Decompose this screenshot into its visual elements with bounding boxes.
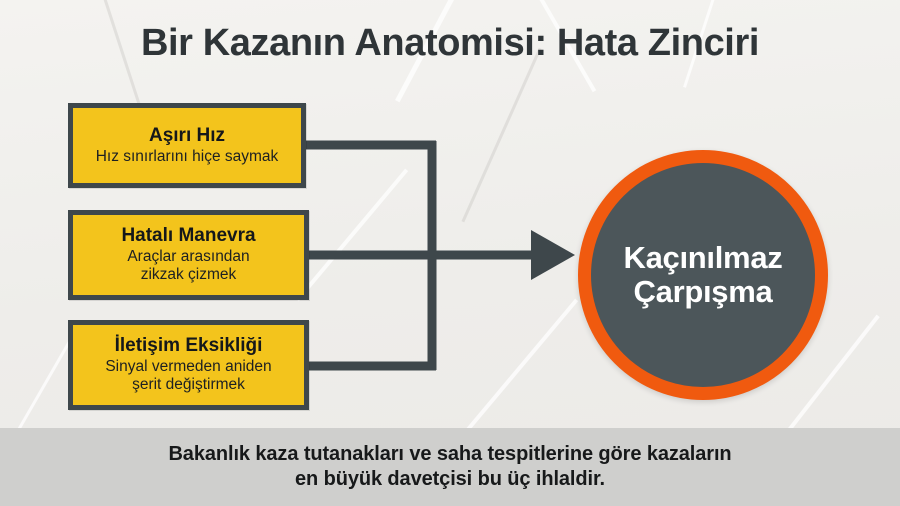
cause-box-2[interactable]: Hatalı Manevra Araçlar arasından zikzak …	[68, 210, 309, 300]
cause-description: Araçlar arasından zikzak çizmek	[127, 248, 249, 283]
cause-description: Sinyal vermeden aniden şerit değiştirmek	[105, 358, 271, 393]
cause-title: İletişim Eksikliği	[115, 336, 263, 356]
caption-text: Bakanlık kaza tutanakları ve saha tespit…	[168, 442, 731, 492]
page-title: Bir Kazanın Anatomisi: Hata Zinciri	[0, 22, 900, 65]
caption-band: Bakanlık kaza tutanakları ve saha tespit…	[0, 428, 900, 506]
cause-box-1[interactable]: Aşırı Hız Hız sınırlarını hiçe saymak	[68, 103, 306, 188]
infographic-canvas: Bir Kazanın Anatomisi: Hata Zinciri Aşır…	[0, 0, 900, 506]
result-circle[interactable]: Kaçınılmaz Çarpışma	[578, 150, 828, 400]
cause-description: Hız sınırlarını hiçe saymak	[96, 148, 279, 166]
cause-title: Hatalı Manevra	[121, 226, 255, 246]
cause-title: Aşırı Hız	[149, 126, 225, 146]
cause-box-3[interactable]: İletişim Eksikliği Sinyal vermeden anide…	[68, 320, 309, 410]
result-label: Kaçınılmaz Çarpışma	[624, 241, 783, 309]
